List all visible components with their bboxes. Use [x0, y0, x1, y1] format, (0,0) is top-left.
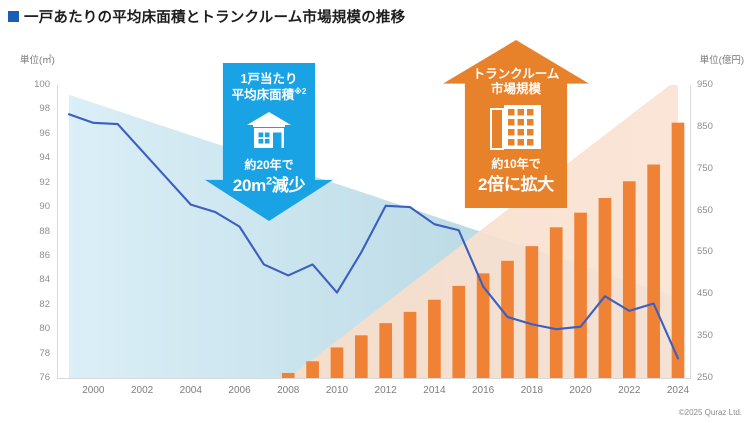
left-axis-tick-label: 80	[16, 324, 50, 334]
left-axis-tick-label: 86	[16, 251, 50, 261]
callout-market-size-body-line2: 2倍に拡大	[443, 170, 589, 195]
copyright-text: ©2025 Quraz Ltd.	[679, 408, 742, 417]
bottom-axis-line	[57, 378, 691, 379]
bar	[404, 312, 417, 378]
left-axis-tick-label: 78	[16, 349, 50, 359]
left-axis-tick-label: 94	[16, 153, 50, 163]
right-axis-tick-label: 450	[697, 289, 731, 299]
title-marker-icon	[8, 11, 19, 22]
bar	[282, 373, 295, 378]
x-axis-tick-label: 2004	[169, 386, 213, 396]
right-axis-tick-label: 750	[697, 164, 731, 174]
bar	[331, 347, 344, 378]
callout-floor-area-title-line1: 1戸当たり	[205, 72, 333, 87]
right-axis-tick-label: 850	[697, 122, 731, 132]
bar	[477, 273, 490, 378]
left-axis-tick-label: 76	[16, 373, 50, 383]
bar	[599, 198, 612, 378]
left-axis-tick-label: 82	[16, 300, 50, 310]
x-axis-tick-label: 2022	[607, 386, 651, 396]
x-axis-tick-label: 2020	[559, 386, 603, 396]
x-axis-tick-label: 2012	[364, 386, 408, 396]
bar	[647, 165, 660, 378]
callout-market-size-title-line2: 市場規模	[443, 82, 589, 97]
bar	[306, 361, 319, 378]
storage-building-icon	[443, 103, 589, 156]
bar	[452, 286, 465, 378]
bar	[379, 323, 392, 378]
right-axis-tick-label: 250	[697, 373, 731, 383]
right-axis-tick-label: 950	[697, 80, 731, 90]
right-axis-line	[690, 85, 691, 379]
callout-market-size: トランクルーム 市場規模 約10年で 2倍に拡大	[443, 40, 589, 208]
x-axis-tick-label: 2024	[656, 386, 700, 396]
bar	[550, 227, 563, 378]
page-title: 一戸あたりの平均床面積とトランクルーム市場規模の推移	[8, 6, 405, 27]
chart-page: 一戸あたりの平均床面積とトランクルーム市場規模の推移 単位(㎡) 単位(億円) …	[0, 0, 750, 423]
left-axis-unit-label: 単位(㎡)	[20, 52, 55, 66]
callout-floor-area-title: 1戸当たり 平均床面積※2	[205, 72, 333, 103]
left-axis-tick-label: 88	[16, 227, 50, 237]
left-axis-tick-label: 100	[16, 80, 50, 90]
bar	[574, 213, 587, 378]
bar	[428, 300, 441, 378]
x-axis-tick-label: 2002	[120, 386, 164, 396]
bar	[623, 181, 636, 378]
x-axis-tick-label: 2008	[266, 386, 310, 396]
left-axis-tick-label: 84	[16, 275, 50, 285]
right-axis-unit-label: 単位(億円)	[700, 52, 744, 66]
x-axis-tick-label: 2014	[412, 386, 456, 396]
left-axis-tick-label: 96	[16, 129, 50, 139]
callout-floor-area-title-line2: 平均床面積※2	[205, 87, 333, 103]
right-axis-tick-label: 350	[697, 331, 731, 341]
house-icon	[205, 110, 333, 155]
bar	[672, 123, 685, 378]
x-axis-tick-label: 2000	[71, 386, 115, 396]
left-axis-tick-label: 98	[16, 104, 50, 114]
callout-floor-area-body-line2: 20m2減少	[205, 171, 333, 196]
callout-market-size-title: トランクルーム 市場規模	[443, 67, 589, 97]
callout-market-size-title-line1: トランクルーム	[443, 67, 589, 82]
bar	[526, 246, 539, 378]
left-axis-tick-label: 92	[16, 178, 50, 188]
bar	[355, 335, 368, 378]
x-axis-tick-label: 2006	[218, 386, 262, 396]
chart-svg	[57, 85, 690, 378]
right-axis-tick-label: 650	[697, 206, 731, 216]
x-axis-tick-label: 2018	[510, 386, 554, 396]
bar	[501, 261, 514, 378]
x-axis-tick-label: 2010	[315, 386, 359, 396]
callout-floor-area: 1戸当たり 平均床面積※2 約20年で 20m2減少	[205, 63, 333, 221]
callout-floor-area-footnote-mark: ※2	[294, 87, 306, 96]
right-axis-tick-label: 550	[697, 247, 731, 257]
x-axis-tick-label: 2016	[461, 386, 505, 396]
left-axis-tick-label: 90	[16, 202, 50, 212]
page-title-text: 一戸あたりの平均床面積とトランクルーム市場規模の推移	[24, 6, 405, 27]
plot-area	[57, 85, 690, 378]
